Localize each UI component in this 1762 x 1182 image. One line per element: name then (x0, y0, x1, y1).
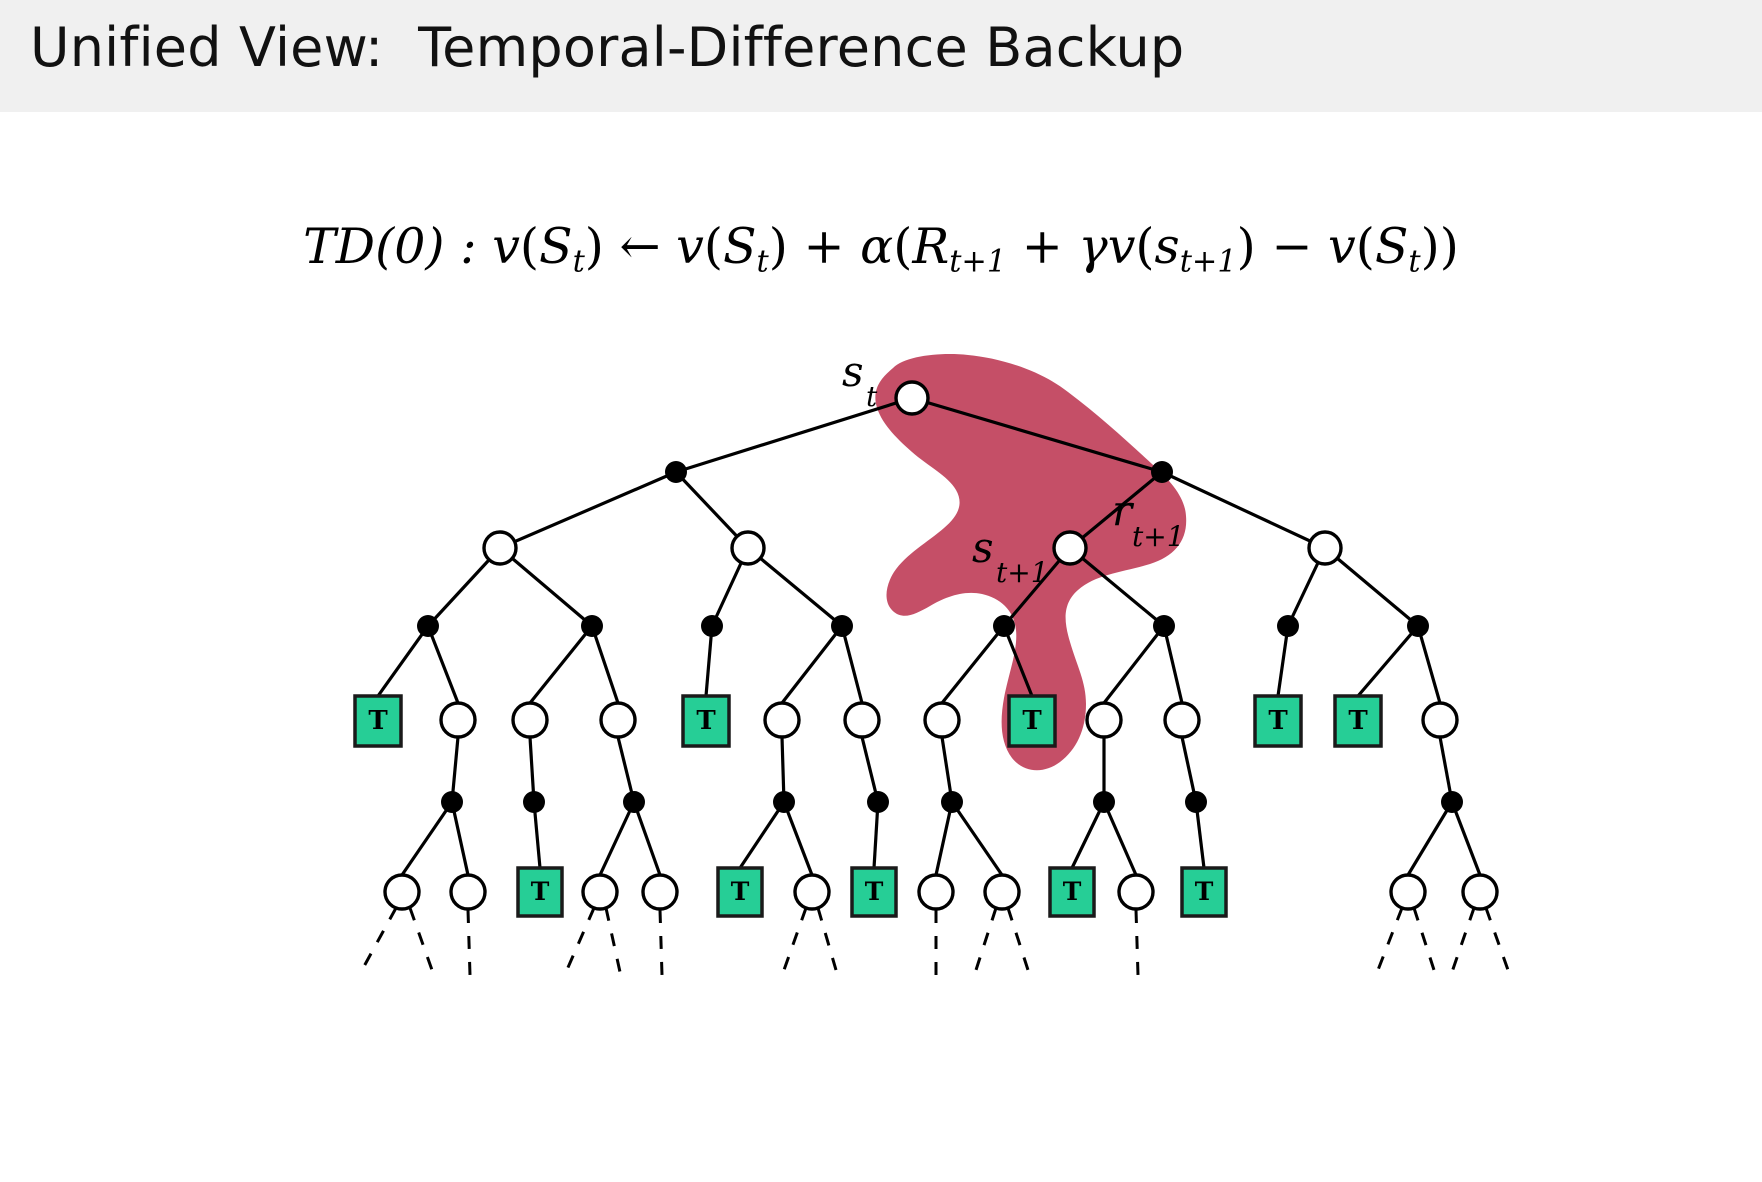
edge (942, 626, 1004, 703)
edge (952, 802, 1002, 875)
dashed-edge (1452, 908, 1474, 972)
formula-S-3: S (1375, 218, 1409, 275)
formula-sub-t-3: t (1408, 245, 1420, 280)
state-node[interactable] (451, 875, 485, 909)
edge (1358, 626, 1418, 696)
action-node[interactable] (441, 791, 463, 813)
action-node[interactable] (831, 615, 853, 637)
formula-paren-close-1: ) (585, 218, 604, 275)
dashed-edge (1136, 910, 1138, 975)
action-node[interactable] (773, 791, 795, 813)
action-node[interactable] (701, 615, 723, 637)
state-node[interactable] (1165, 703, 1199, 737)
terminal-node[interactable]: T (683, 696, 729, 746)
formula-minus: − (1271, 218, 1312, 275)
edge (784, 802, 812, 875)
dashed-edge (1008, 908, 1028, 970)
edge (748, 548, 842, 626)
state-node-root[interactable] (896, 382, 928, 414)
label-s-tplus1-sub: t+1 (996, 556, 1049, 589)
action-node[interactable] (665, 461, 687, 483)
terminal-label: T (1195, 877, 1214, 906)
action-node[interactable] (1407, 615, 1429, 637)
state-node[interactable] (1391, 875, 1425, 909)
edge (500, 472, 676, 548)
edge (740, 802, 784, 868)
formula-sub-t-2: t (757, 245, 769, 280)
terminal-label: T (1063, 877, 1082, 906)
state-node[interactable] (385, 875, 419, 909)
state-node-next[interactable] (1054, 532, 1086, 564)
dashed-edge (410, 908, 432, 970)
dashed-edge (468, 910, 470, 975)
action-node-group (417, 461, 1463, 813)
formula-s-lower: s (1155, 218, 1180, 275)
dashed-continuation-edges (362, 908, 1508, 975)
edge (1104, 626, 1164, 703)
edge (592, 626, 618, 703)
dashed-edge (976, 908, 996, 970)
formula-paren-open-4: ( (1135, 218, 1154, 275)
edge (1162, 472, 1325, 548)
edge (1418, 626, 1440, 703)
state-node[interactable] (643, 875, 677, 909)
state-node[interactable] (985, 875, 1019, 909)
action-node[interactable] (523, 791, 545, 813)
label-s-t-base: s (842, 347, 864, 396)
formula-gamma: γ (1078, 218, 1107, 275)
formula-S-2: S (723, 218, 757, 275)
edge (782, 626, 842, 703)
action-node[interactable] (581, 615, 603, 637)
formula-paren-open-1: ( (520, 218, 539, 275)
edge (1452, 802, 1480, 875)
formula-plus-2: + (1022, 218, 1063, 275)
formula-paren-close-2: ) (769, 218, 788, 275)
terminal-node[interactable]: T (1182, 868, 1226, 916)
state-node[interactable] (1463, 875, 1497, 909)
edge (1164, 626, 1182, 703)
edge (530, 626, 592, 703)
terminal-label: T (696, 706, 716, 736)
formula-v4: v (1328, 218, 1356, 275)
dashed-edge (784, 908, 806, 970)
terminal-node[interactable]: T (355, 696, 401, 746)
label-r-tplus1-sub: t+1 (1132, 520, 1185, 553)
action-node[interactable] (623, 791, 645, 813)
dashed-edge (1378, 908, 1402, 970)
state-node[interactable] (1087, 703, 1121, 737)
dashed-edge (1486, 908, 1508, 970)
formula-lhs-name: TD(0) (303, 218, 444, 275)
formula-paren-open-2: ( (704, 218, 723, 275)
edge (634, 802, 660, 875)
formula-paren-close-6: ) (1440, 218, 1459, 275)
state-node[interactable] (1423, 703, 1457, 737)
terminal-node[interactable]: T (852, 868, 896, 916)
action-node[interactable] (1185, 791, 1207, 813)
action-node[interactable] (867, 791, 889, 813)
state-node[interactable] (513, 703, 547, 737)
page-title: Unified View: Temporal-Difference Backup (30, 16, 1184, 79)
state-node[interactable] (919, 875, 953, 909)
formula-paren-close-5: ) (1421, 218, 1440, 275)
terminal-node[interactable]: T (1050, 868, 1094, 916)
terminal-node[interactable]: T (718, 868, 762, 916)
formula-sub-tplus1-1: t+1 (949, 245, 1006, 280)
state-node[interactable] (925, 703, 959, 737)
dashed-edge (606, 908, 620, 972)
edge (500, 548, 592, 626)
formula-colon: : (445, 218, 493, 275)
state-node[interactable] (795, 875, 829, 909)
td-zero-formula: TD(0) : v(St) ← v(St) + α(Rt+1 + γv(st+1… (0, 218, 1762, 280)
terminal-label: T (731, 877, 750, 906)
edge (1325, 548, 1418, 626)
formula-R: R (912, 218, 949, 275)
state-node[interactable] (484, 532, 516, 564)
action-node[interactable] (1153, 615, 1175, 637)
dashed-edge (1414, 908, 1434, 970)
terminal-node[interactable]: T (1255, 696, 1301, 746)
backup-diagram: T T T T T (0, 330, 1762, 1090)
terminal-node[interactable]: T (518, 868, 562, 916)
action-node[interactable] (1441, 791, 1463, 813)
edge (842, 626, 862, 703)
edge (452, 802, 468, 875)
state-node[interactable] (1309, 532, 1341, 564)
formula-arrow: ← (620, 218, 661, 275)
edge (1104, 802, 1136, 875)
formula-S-1: S (539, 218, 573, 275)
edge (600, 802, 634, 875)
terminal-label: T (531, 877, 550, 906)
dashed-edge (660, 910, 662, 975)
dashed-edge (362, 908, 396, 970)
formula-paren-open-5: ( (1356, 218, 1375, 275)
state-node[interactable] (1119, 875, 1153, 909)
terminal-label: T (1022, 706, 1042, 736)
terminal-node[interactable]: T (1009, 696, 1055, 746)
state-node[interactable] (583, 875, 617, 909)
terminal-label: T (368, 706, 388, 736)
terminal-node[interactable]: T (1335, 696, 1381, 746)
label-s-t-sub: t (866, 380, 878, 413)
action-node[interactable] (1277, 615, 1299, 637)
dashed-edge (566, 908, 594, 972)
label-s-tplus1-base: s (972, 523, 994, 572)
edge (936, 802, 952, 875)
slide-canvas: Unified View: Temporal-Difference Backup… (0, 0, 1762, 1182)
action-node[interactable] (941, 791, 963, 813)
formula-paren-close-4: ) (1237, 218, 1256, 275)
formula-v2: v (676, 218, 704, 275)
action-node[interactable] (1093, 791, 1115, 813)
state-node[interactable] (765, 703, 799, 737)
edge (378, 626, 428, 696)
state-node[interactable] (845, 703, 879, 737)
formula-paren-open-3: ( (893, 218, 912, 275)
action-node[interactable] (1151, 461, 1173, 483)
action-node[interactable] (417, 615, 439, 637)
edge (428, 626, 458, 703)
formula-alpha: α (860, 218, 893, 275)
backup-tree-svg: T T T T T (0, 330, 1762, 1090)
edge (1072, 802, 1104, 868)
state-node[interactable] (441, 703, 475, 737)
formula-sub-tplus1-2: t+1 (1180, 245, 1237, 280)
formula-plus-1: + (803, 218, 844, 275)
state-node[interactable] (732, 532, 764, 564)
dashed-edge (818, 908, 836, 970)
action-node[interactable] (993, 615, 1015, 637)
edge (402, 802, 452, 875)
formula-v3: v (1108, 218, 1136, 275)
state-node[interactable] (601, 703, 635, 737)
edge (1408, 802, 1452, 875)
formula-sub-t-1: t (573, 245, 585, 280)
terminal-label: T (865, 877, 884, 906)
terminal-label: T (1268, 706, 1288, 736)
terminal-label: T (1348, 706, 1368, 736)
formula-v1: v (492, 218, 520, 275)
